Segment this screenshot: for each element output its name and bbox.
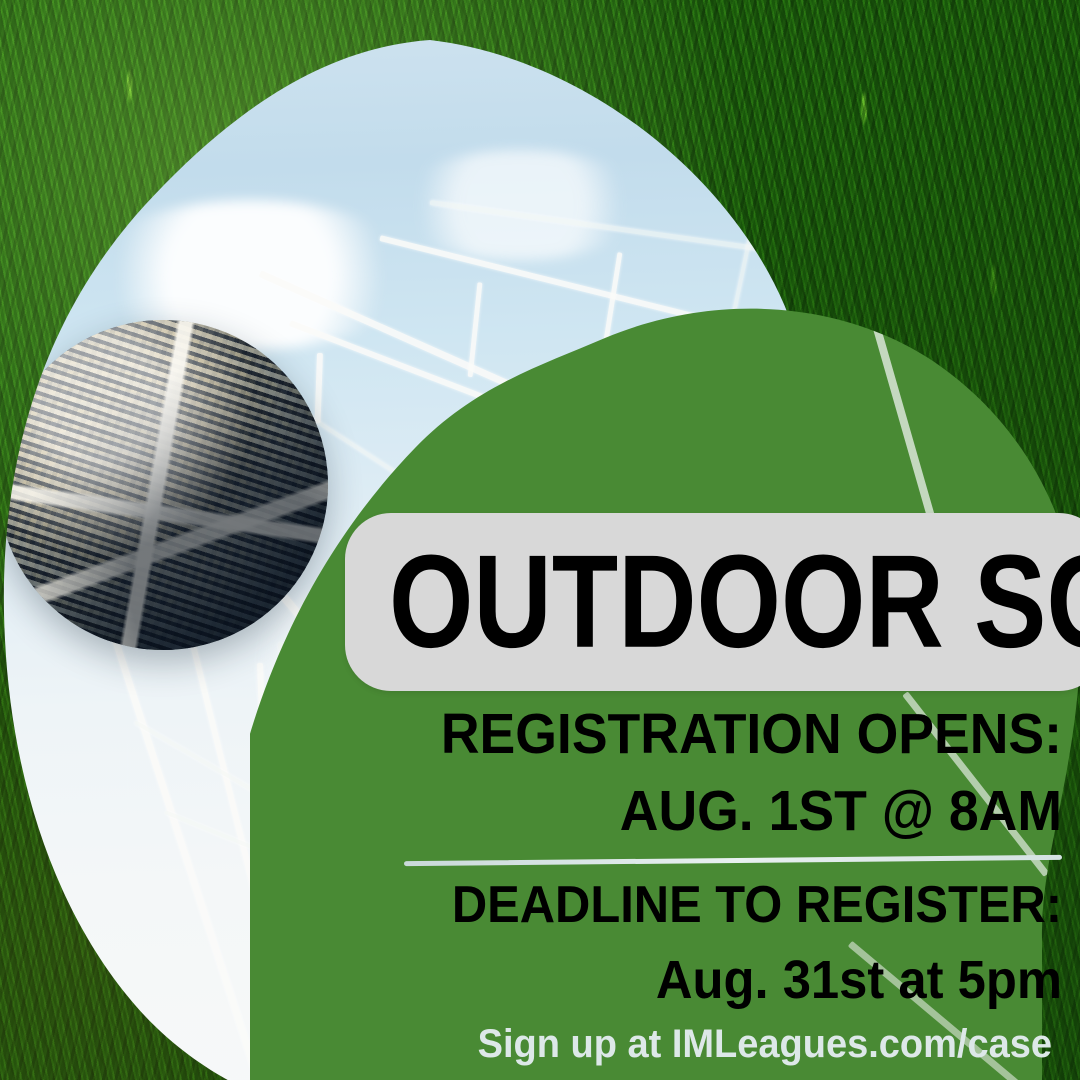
- registration-opens-value: AUG. 1ST @ 8AM: [404, 783, 1062, 840]
- registration-opens-label: REGISTRATION OPENS:: [404, 706, 1062, 763]
- ball-shading: [0, 320, 328, 650]
- section-divider: [404, 855, 1062, 866]
- deadline-label: DEADLINE TO REGISTER:: [404, 879, 1062, 931]
- page-title: OUTDOOR SOCCER: [389, 536, 1080, 668]
- soccer-ball: [0, 320, 328, 650]
- deadline-value: Aug. 31st at 5pm: [404, 953, 1062, 1007]
- registration-info: REGISTRATION OPENS: AUG. 1ST @ 8AM DEADL…: [362, 706, 1062, 1007]
- signup-url-text: Sign up at IMLeagues.com/case: [387, 1022, 1052, 1067]
- poster-canvas: OUTDOOR SOCCER REGISTRATION OPENS: AUG. …: [0, 0, 1080, 1080]
- title-banner: OUTDOOR SOCCER: [345, 513, 1080, 691]
